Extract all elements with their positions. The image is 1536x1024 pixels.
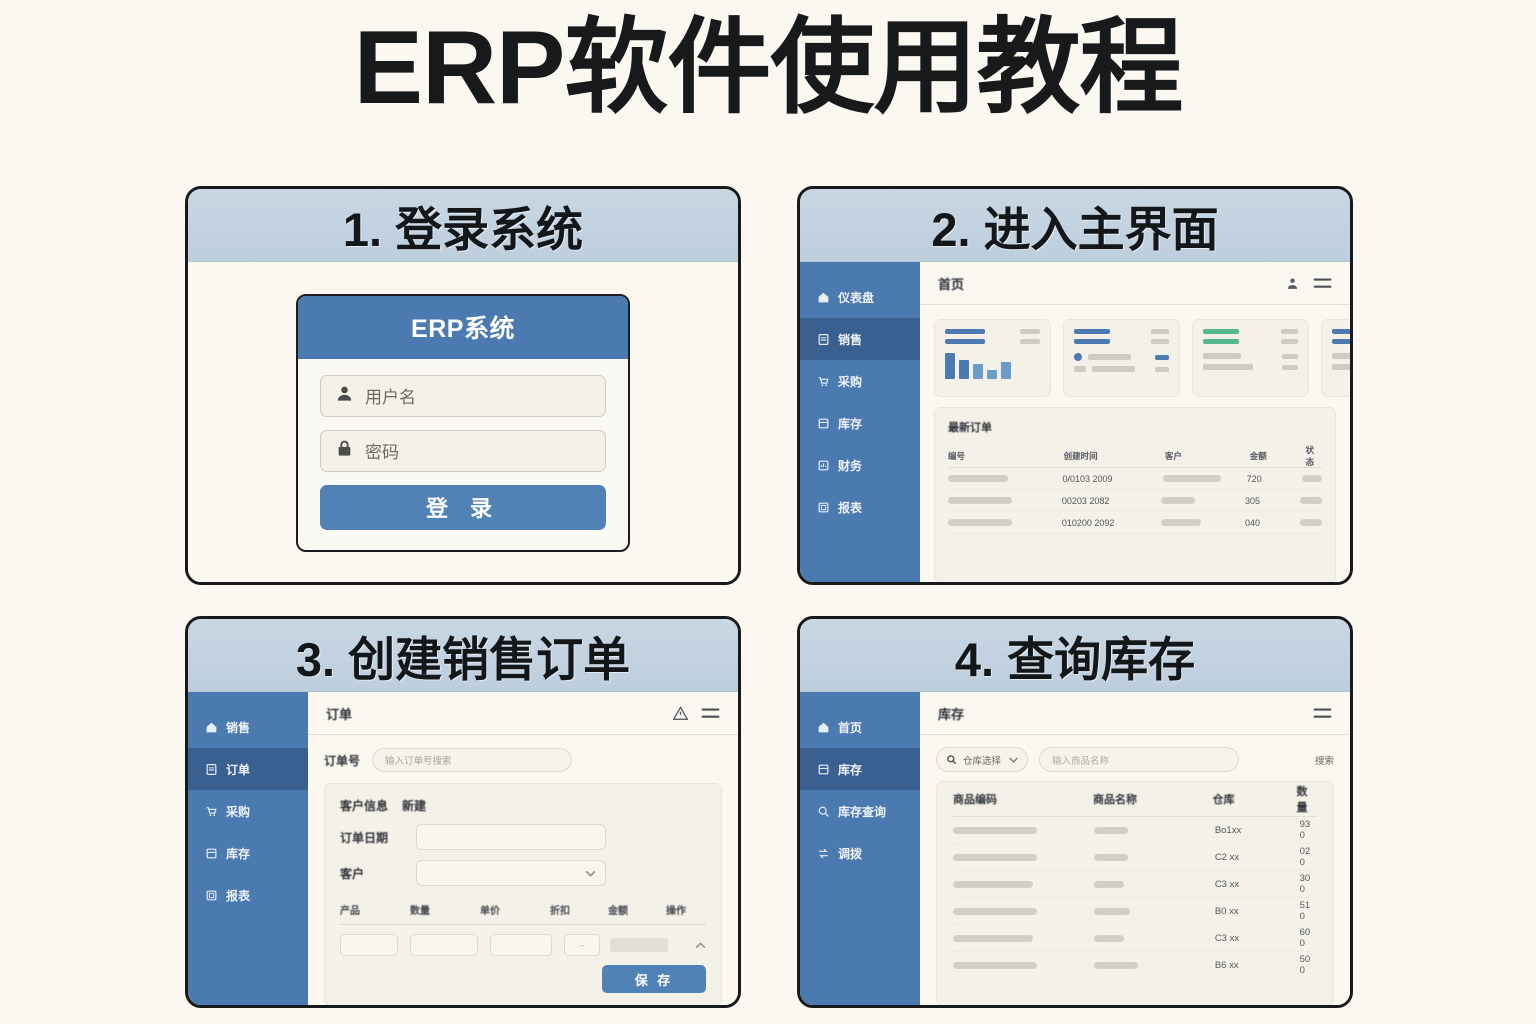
user-icon bbox=[335, 384, 354, 408]
document-icon bbox=[205, 763, 218, 776]
line-product-input[interactable] bbox=[340, 934, 398, 956]
cell-placeholder bbox=[953, 908, 1037, 915]
cell-amount: 040 bbox=[1245, 518, 1300, 528]
table-caption: 最新订单 bbox=[948, 419, 1322, 435]
customer-info-value: 新建 bbox=[402, 797, 426, 814]
order-search-input[interactable]: 输入订单号搜索 bbox=[372, 748, 572, 772]
cell-qty: 50 0 bbox=[1300, 954, 1317, 976]
sidebar-label: 库存查询 bbox=[838, 803, 886, 820]
kpi-card[interactable] bbox=[1321, 319, 1353, 397]
login-submit-button[interactable]: 登 录 bbox=[320, 485, 606, 530]
cell-warehouse: B6 xx bbox=[1215, 960, 1300, 971]
panel-3-step-label: 3. 创建销售订单 bbox=[296, 621, 630, 690]
sidebar-label: 销售 bbox=[226, 719, 250, 736]
login-card-title: ERP系统 bbox=[298, 296, 628, 359]
box-icon bbox=[817, 763, 830, 776]
sidebar-label: 采购 bbox=[226, 803, 250, 820]
cell-placeholder bbox=[1302, 475, 1322, 482]
line-discount-input[interactable]: – bbox=[564, 934, 600, 956]
sidebar-item-finance[interactable]: 财务 bbox=[800, 444, 920, 486]
topbar-title: 订单 bbox=[326, 704, 352, 723]
main-content-panel-2: 首页 bbox=[920, 262, 1350, 583]
sidebar-panel-4: 首页 库存 库存查询 调拨 bbox=[800, 692, 920, 1006]
cell-placeholder bbox=[953, 935, 1033, 942]
table-row[interactable]: B6 xx 50 0 bbox=[953, 952, 1317, 978]
column-header: 金额 bbox=[608, 902, 666, 917]
cell-warehouse: C2 xx bbox=[1215, 852, 1300, 863]
chevron-down-icon bbox=[585, 870, 596, 877]
cell-amount: 720 bbox=[1247, 474, 1302, 484]
cell-amount: 305 bbox=[1245, 496, 1300, 506]
sidebar-item-home[interactable]: 首页 bbox=[800, 706, 920, 748]
box-icon bbox=[817, 417, 830, 430]
cart-icon bbox=[205, 805, 218, 818]
report-icon bbox=[205, 889, 218, 902]
cell-qty: 30 0 bbox=[1300, 873, 1317, 895]
login-screen: ERP系统 用户名 密码 登 录 bbox=[188, 262, 738, 583]
table-row[interactable]: 010200 2092 040 bbox=[948, 512, 1322, 534]
cell-placeholder bbox=[1094, 827, 1128, 834]
main-content-panel-4: 库存 仓库选择 输入商品名称 搜索 商品编码 商品名称 仓库 bbox=[920, 692, 1350, 1006]
kpi-card[interactable] bbox=[1063, 319, 1180, 397]
inventory-table-card: 商品编码 商品名称 仓库 数量 Bo1xx 93 0 C2 xx 02 0 bbox=[936, 781, 1334, 1006]
order-date-input[interactable] bbox=[416, 824, 606, 850]
column-header: 商品编码 bbox=[953, 791, 1093, 807]
mini-bar-chart bbox=[945, 351, 1040, 379]
sidebar-item-reports[interactable]: 报表 bbox=[188, 874, 308, 916]
kpi-card-row bbox=[920, 305, 1350, 407]
order-form-card: 客户信息 新建 订单日期 客户 产品 数量 单价 折扣 bbox=[324, 783, 722, 1006]
column-header: 单价 bbox=[480, 902, 550, 917]
cell-placeholder bbox=[953, 827, 1037, 834]
cell-placeholder bbox=[1094, 881, 1124, 888]
hamburger-menu-icon[interactable] bbox=[701, 706, 720, 721]
panel-1-step-label: 1. 登录系统 bbox=[343, 191, 583, 260]
password-field[interactable]: 密码 bbox=[320, 430, 606, 472]
panel-step-1: 1. 登录系统 ERP系统 用户名 密码 bbox=[185, 186, 741, 585]
inventory-search-button[interactable]: 搜索 bbox=[1315, 753, 1334, 767]
warehouse-select[interactable]: 仓库选择 bbox=[936, 747, 1028, 772]
table-row[interactable]: 00203 2082 305 bbox=[948, 490, 1322, 512]
topbar-panel-4: 库存 bbox=[920, 692, 1350, 735]
password-placeholder: 密码 bbox=[365, 438, 399, 463]
cell-warehouse: C3 xx bbox=[1215, 933, 1300, 944]
sidebar-panel-2: 仪表盘 销售 采购 库存 财务 报表 bbox=[800, 262, 920, 583]
sidebar-item-inventory-query[interactable]: 库存查询 bbox=[800, 790, 920, 832]
login-card: ERP系统 用户名 密码 登 录 bbox=[296, 294, 630, 552]
column-header: 状态 bbox=[1306, 444, 1322, 468]
cell-placeholder bbox=[948, 519, 1012, 526]
cell-qty: 51 0 bbox=[1300, 900, 1317, 922]
cell-date: 0/0103 2009 bbox=[1063, 474, 1163, 484]
cell-placeholder bbox=[953, 881, 1033, 888]
customer-select-label: 客户 bbox=[340, 865, 402, 882]
home-icon bbox=[817, 291, 830, 304]
sidebar-item-purchase[interactable]: 采购 bbox=[188, 790, 308, 832]
order-search-label: 订单号 bbox=[324, 752, 360, 769]
sidebar-item-dashboard[interactable]: 仪表盘 bbox=[800, 276, 920, 318]
panel-4-step-label: 4. 查询库存 bbox=[955, 621, 1195, 690]
order-search-row: 订单号 输入订单号搜索 bbox=[308, 735, 738, 783]
line-item-row: – bbox=[340, 925, 706, 956]
search-icon bbox=[817, 805, 830, 818]
cell-placeholder bbox=[1094, 935, 1124, 942]
sidebar-item-reports[interactable]: 报表 bbox=[800, 486, 920, 528]
column-header: 创建时间 bbox=[1064, 450, 1165, 462]
cell-placeholder bbox=[1094, 854, 1128, 861]
sidebar-item-transfer[interactable]: 调拨 bbox=[800, 832, 920, 874]
topbar-title: 库存 bbox=[938, 704, 964, 723]
cell-placeholder bbox=[1161, 519, 1201, 526]
table-row[interactable]: C2 xx 02 0 bbox=[953, 844, 1317, 871]
sidebar-label: 调拨 bbox=[838, 845, 862, 862]
topbar-title: 首页 bbox=[938, 274, 964, 293]
table-row[interactable]: B0 xx 51 0 bbox=[953, 898, 1317, 925]
status-dot bbox=[1074, 353, 1082, 361]
panel-1-header: 1. 登录系统 bbox=[188, 189, 738, 262]
report-icon bbox=[817, 501, 830, 514]
sidebar-label: 仪表盘 bbox=[838, 289, 874, 306]
column-header: 金额 bbox=[1250, 450, 1306, 462]
table-header-row: 编号 创建时间 客户 金额 状态 bbox=[948, 445, 1322, 468]
cell-date: 010200 2092 bbox=[1062, 518, 1162, 528]
panel-step-2: 2. 进入主界面 仪表盘 销售 采购 库存 财务 bbox=[797, 186, 1353, 585]
sidebar-item-purchase[interactable]: 采购 bbox=[800, 360, 920, 402]
panel-3-header: 3. 创建销售订单 bbox=[188, 619, 738, 692]
sidebar-label: 报表 bbox=[838, 499, 862, 516]
sidebar-item-orders[interactable]: 订单 bbox=[188, 748, 308, 790]
search-icon bbox=[946, 754, 957, 765]
line-amount-placeholder bbox=[610, 938, 668, 952]
transfer-icon bbox=[817, 847, 830, 860]
sidebar-label: 库存 bbox=[838, 415, 862, 432]
line-price-input[interactable] bbox=[490, 934, 552, 956]
panel-4-header: 4. 查询库存 bbox=[800, 619, 1350, 692]
recent-orders-card: 最新订单 编号 创建时间 客户 金额 状态 0/0103 2009 720 bbox=[934, 407, 1336, 583]
username-field[interactable]: 用户名 bbox=[320, 375, 606, 417]
chevron-up-icon[interactable] bbox=[695, 942, 706, 949]
column-header: 产品 bbox=[340, 902, 410, 917]
sidebar-label: 财务 bbox=[838, 457, 862, 474]
line-qty-input[interactable] bbox=[410, 934, 478, 956]
lock-icon bbox=[335, 439, 354, 463]
line-items-header: 产品 数量 单价 折扣 金额 操作 bbox=[340, 902, 706, 925]
topbar-panel-2: 首页 bbox=[920, 262, 1350, 305]
hamburger-menu-icon[interactable] bbox=[1313, 276, 1332, 291]
username-placeholder: 用户名 bbox=[365, 383, 416, 408]
cell-placeholder bbox=[1163, 475, 1221, 482]
sidebar-item-inventory[interactable]: 库存 bbox=[800, 748, 920, 790]
order-date-label: 订单日期 bbox=[340, 829, 402, 846]
sidebar-label: 库存 bbox=[838, 761, 862, 778]
table-header-row: 商品编码 商品名称 仓库 数量 bbox=[953, 782, 1317, 817]
panel-2-header: 2. 进入主界面 bbox=[800, 189, 1350, 262]
panel-step-4: 4. 查询库存 首页 库存 库存查询 调拨 库存 bbox=[797, 616, 1353, 1008]
sidebar-item-sales[interactable]: 销售 bbox=[800, 318, 920, 360]
customer-select[interactable] bbox=[416, 860, 606, 886]
column-header: 商品名称 bbox=[1093, 791, 1212, 807]
cell-qty: 02 0 bbox=[1300, 846, 1317, 868]
customer-info-label: 客户信息 bbox=[340, 797, 388, 814]
chart-icon bbox=[817, 459, 830, 472]
cell-qty: 60 0 bbox=[1300, 927, 1317, 949]
topbar-panel-3: 订单 bbox=[308, 692, 738, 735]
column-header: 操作 bbox=[666, 902, 686, 917]
cell-placeholder bbox=[953, 962, 1037, 969]
sidebar-item-inventory[interactable]: 库存 bbox=[800, 402, 920, 444]
kpi-card[interactable] bbox=[934, 319, 1051, 397]
cell-qty: 93 0 bbox=[1300, 819, 1317, 841]
page-title: ERP软件使用教程 bbox=[0, 14, 1536, 123]
cell-placeholder bbox=[1094, 962, 1138, 969]
column-header: 客户 bbox=[1165, 450, 1250, 462]
cart-icon bbox=[817, 375, 830, 388]
customer-info-row: 客户信息 新建 bbox=[340, 797, 706, 814]
sidebar-label: 库存 bbox=[226, 845, 250, 862]
save-order-button[interactable]: 保 存 bbox=[602, 965, 706, 993]
cell-warehouse: C3 xx bbox=[1215, 879, 1300, 890]
cell-placeholder bbox=[948, 497, 1012, 504]
column-header: 编号 bbox=[948, 450, 1064, 462]
kpi-card[interactable] bbox=[1192, 319, 1309, 397]
panel-step-3: 3. 创建销售订单 销售 订单 采购 库存 报表 bbox=[185, 616, 741, 1008]
box-icon bbox=[205, 847, 218, 860]
home-icon bbox=[817, 721, 830, 734]
warning-icon[interactable] bbox=[673, 706, 688, 720]
panel-2-step-label: 2. 进入主界面 bbox=[931, 191, 1218, 260]
cell-warehouse: B0 xx bbox=[1215, 906, 1300, 917]
inventory-search-row: 仓库选择 输入商品名称 搜索 bbox=[920, 735, 1350, 781]
cell-date: 00203 2082 bbox=[1062, 496, 1162, 506]
table-row[interactable]: C3 xx 30 0 bbox=[953, 871, 1317, 898]
column-header: 数量 bbox=[410, 902, 480, 917]
inventory-search-input[interactable]: 输入商品名称 bbox=[1039, 747, 1239, 772]
sidebar-item-inventory[interactable]: 库存 bbox=[188, 832, 308, 874]
sidebar-item-sales[interactable]: 销售 bbox=[188, 706, 308, 748]
table-row[interactable]: C3 xx 60 0 bbox=[953, 925, 1317, 952]
main-content-panel-3: 订单 订单号 输入订单号搜索 客户信息 新建 订单日期 bbox=[308, 692, 738, 1006]
warehouse-select-value: 仓库选择 bbox=[963, 753, 1001, 767]
cell-placeholder bbox=[953, 854, 1037, 861]
sidebar-label: 采购 bbox=[838, 373, 862, 390]
document-icon bbox=[817, 333, 830, 346]
user-icon[interactable] bbox=[1285, 276, 1300, 291]
cell-placeholder bbox=[948, 475, 1008, 482]
cell-placeholder bbox=[1300, 497, 1322, 504]
table-row[interactable]: 0/0103 2009 720 bbox=[948, 468, 1322, 490]
hamburger-menu-icon[interactable] bbox=[1313, 706, 1332, 721]
cell-placeholder bbox=[1300, 519, 1322, 526]
table-row[interactable]: Bo1xx 93 0 bbox=[953, 817, 1317, 844]
cell-warehouse: Bo1xx bbox=[1215, 825, 1300, 836]
chevron-down-icon bbox=[1009, 757, 1018, 763]
sidebar-label: 报表 bbox=[226, 887, 250, 904]
sidebar-label: 订单 bbox=[226, 761, 250, 778]
column-header: 数量 bbox=[1296, 783, 1317, 815]
customer-select-row: 客户 bbox=[340, 860, 706, 886]
home-icon bbox=[205, 721, 218, 734]
sidebar-label: 销售 bbox=[838, 331, 862, 348]
cell-placeholder bbox=[1094, 908, 1130, 915]
sidebar-panel-3: 销售 订单 采购 库存 报表 bbox=[188, 692, 308, 1006]
column-header: 折扣 bbox=[550, 902, 608, 917]
sidebar-label: 首页 bbox=[838, 719, 862, 736]
cell-placeholder bbox=[1161, 497, 1195, 504]
column-header: 仓库 bbox=[1212, 791, 1296, 807]
order-date-row: 订单日期 bbox=[340, 824, 706, 850]
